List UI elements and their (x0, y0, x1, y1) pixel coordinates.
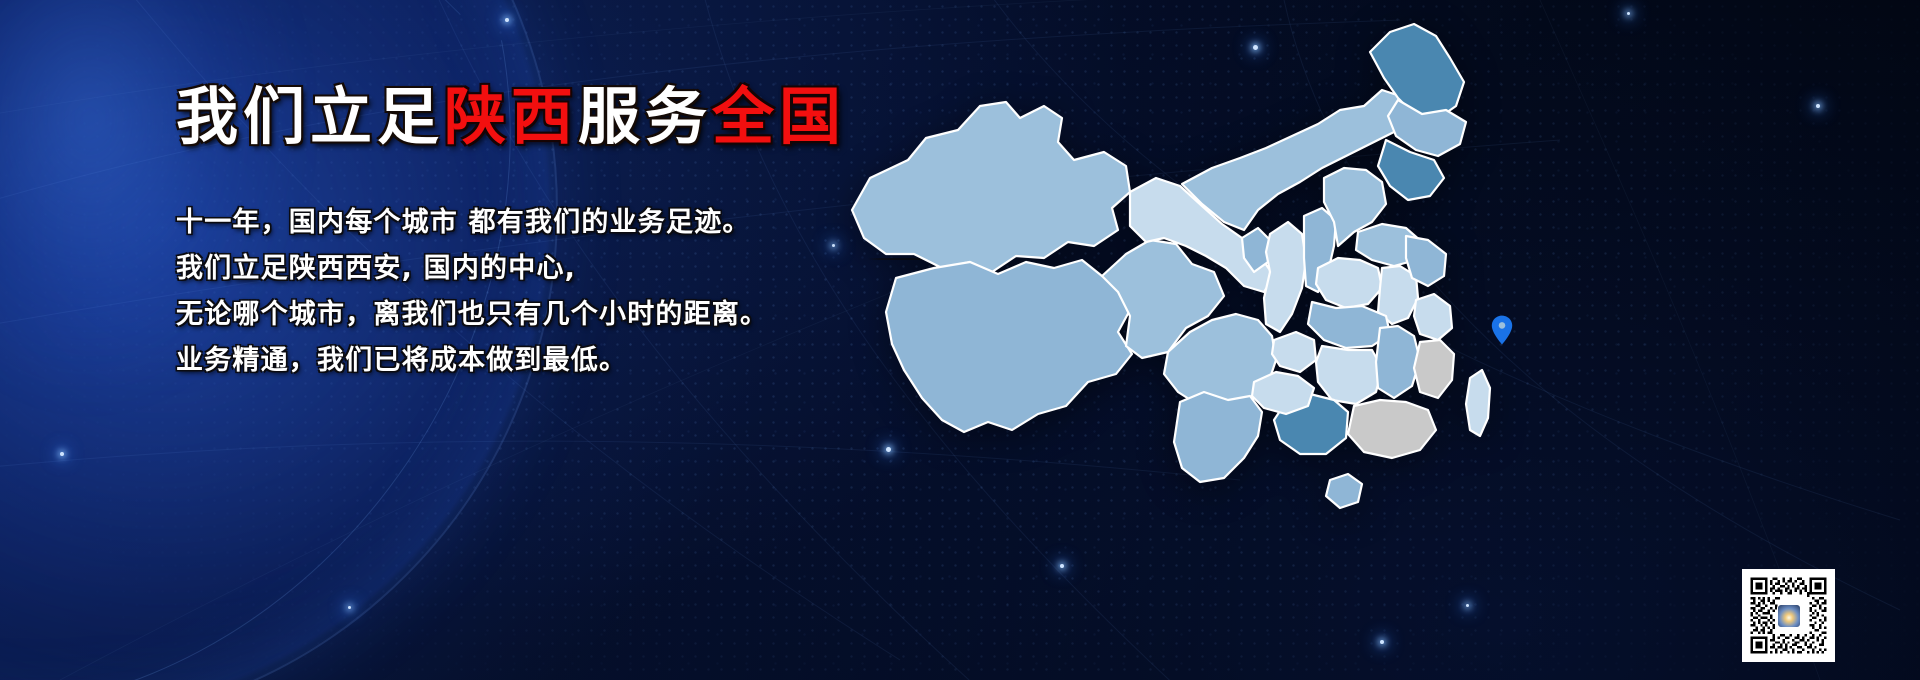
map-region-taiwan (1466, 370, 1490, 436)
location-pin-icon[interactable] (1491, 315, 1513, 345)
sparkle (1466, 604, 1469, 607)
body-copy: 十一年，国内每个城市 都有我们的业务足迹。 我们立足陕西西安, 国内的中心, 无… (176, 200, 768, 384)
headline-segment-1: 我们立足 (176, 80, 444, 153)
headline-segment-3: 服务 (578, 80, 712, 153)
body-line: 业务精通，我们已将成本做到最低。 (176, 338, 768, 384)
qr-center-logo-icon (1777, 604, 1801, 628)
map-region-jiangsu (1406, 236, 1446, 286)
body-line: 无论哪个城市，离我们也只有几个小时的距离。 (176, 292, 768, 338)
china-map (830, 10, 1530, 570)
map-region-guizhou (1252, 372, 1314, 414)
body-line: 十一年，国内每个城市 都有我们的业务足迹。 (176, 200, 768, 246)
map-region-tibet (886, 260, 1132, 432)
sparkle (60, 452, 64, 456)
sparkle (348, 606, 351, 609)
map-region-fujian (1414, 340, 1454, 398)
headline: 我们立足陕西服务全国 (176, 86, 846, 148)
sparkle (505, 18, 509, 22)
map-region-henan (1316, 258, 1382, 308)
map-region-shaanxi (1264, 222, 1306, 332)
qr-code-inner (1748, 575, 1829, 656)
sparkle (1816, 104, 1820, 108)
sparkle (1380, 640, 1384, 644)
headline-segment-4: 全国 (712, 80, 846, 153)
map-region-hainan (1326, 474, 1362, 508)
map-region-yunnan (1174, 392, 1262, 482)
location-pin-svg (1491, 315, 1513, 345)
map-region-hunan (1316, 346, 1382, 404)
map-region-xinjiang (852, 102, 1130, 272)
map-region-jiangxi (1376, 326, 1420, 398)
map-region-chongqing (1272, 332, 1316, 372)
body-line: 我们立足陕西西安, 国内的中心, (176, 246, 768, 292)
qr-code[interactable] (1742, 569, 1835, 662)
banner-stage: 我们立足陕西服务全国 十一年，国内每个城市 都有我们的业务足迹。 我们立足陕西西… (0, 0, 1920, 680)
map-region-zhejiang (1414, 294, 1452, 340)
headline-segment-2: 陕西 (444, 80, 578, 153)
china-map-svg (830, 10, 1530, 570)
sparkle (1627, 12, 1630, 15)
map-region-guangdong (1348, 400, 1436, 458)
